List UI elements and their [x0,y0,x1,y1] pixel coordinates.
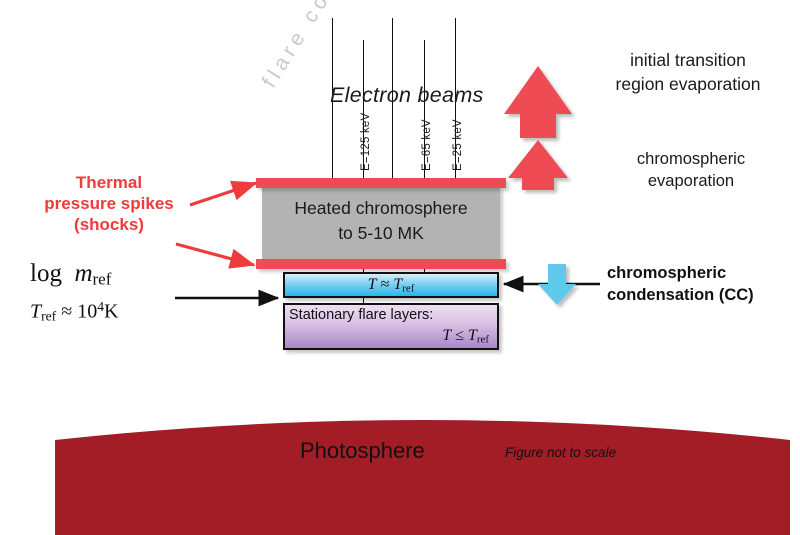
heated-chromosphere-line-1: Heated chromosphere [262,196,500,221]
chromospheric-condensation-line-2: condensation (CC) [607,284,797,306]
t-ref-equation: Tref ≈ 104K [30,293,118,330]
chromospheric-evaporation-line-2: evaporation [596,170,786,192]
flare-corona-watermark-label: flare corona [258,0,395,92]
electron-beams-title: Electron beams [330,83,484,108]
photosphere-label: Photosphere [300,438,425,464]
thermal-pressure-arrow-lower [176,244,254,265]
beam-energy-label-125kev: E=125 keV [360,113,372,171]
thermal-pressure-shock-bar-lower [256,259,506,269]
beam-energy-label-25kev: E=25 keV [452,119,464,171]
heated-chromosphere-text: Heated chromosphere to 5-10 MK [262,196,500,246]
thermal-pressure-shock-bar-upper [256,178,506,188]
thermal-pressure-line-1: Thermal [14,172,204,193]
stationary-flare-layers-equation: T ≤ Tref [442,327,489,345]
thermal-pressure-spikes-label: Thermal pressure spikes (shocks) [14,172,204,235]
beam-energy-label-65kev: E=65 keV [421,119,433,171]
chromospheric-evaporation-label: chromospheric evaporation [596,148,786,192]
chromospheric-condensation-box-text: T ≈ Tref [285,276,497,294]
initial-transition-line-2: region evaporation [583,72,793,96]
thermal-pressure-line-3: (shocks) [14,214,204,235]
figure-scale-note: Figure not to scale [505,445,616,460]
reference-mass-temperature-label: log mref Tref ≈ 104K [30,260,118,329]
log-m-ref-equation: log mref [30,260,118,293]
initial-transition-line-1: initial transition [583,48,793,72]
heated-chromosphere-line-2: to 5-10 MK [262,221,500,246]
stationary-flare-layers-caption: Stationary flare layers: [289,307,433,323]
chromospheric-condensation-down-arrow [538,264,576,305]
chromospheric-condensation-box: T ≈ Tref [283,272,499,298]
chromospheric-evaporation-line-1: chromospheric [596,148,786,170]
initial-transition-evaporation-arrow [504,66,572,138]
stationary-flare-layers-box: Stationary flare layers: T ≤ Tref [283,303,499,350]
chromospheric-evaporation-arrow [508,140,568,190]
thermal-pressure-line-2: pressure spikes [14,193,204,214]
chromospheric-condensation-line-1: chromospheric [607,262,797,284]
chromospheric-condensation-label: chromospheric condensation (CC) [607,262,797,306]
initial-transition-region-evaporation-label: initial transition region evaporation [583,48,793,96]
solar-flare-diagram: flare corona E=125 keV E=65 keV E=25 keV… [0,0,800,535]
